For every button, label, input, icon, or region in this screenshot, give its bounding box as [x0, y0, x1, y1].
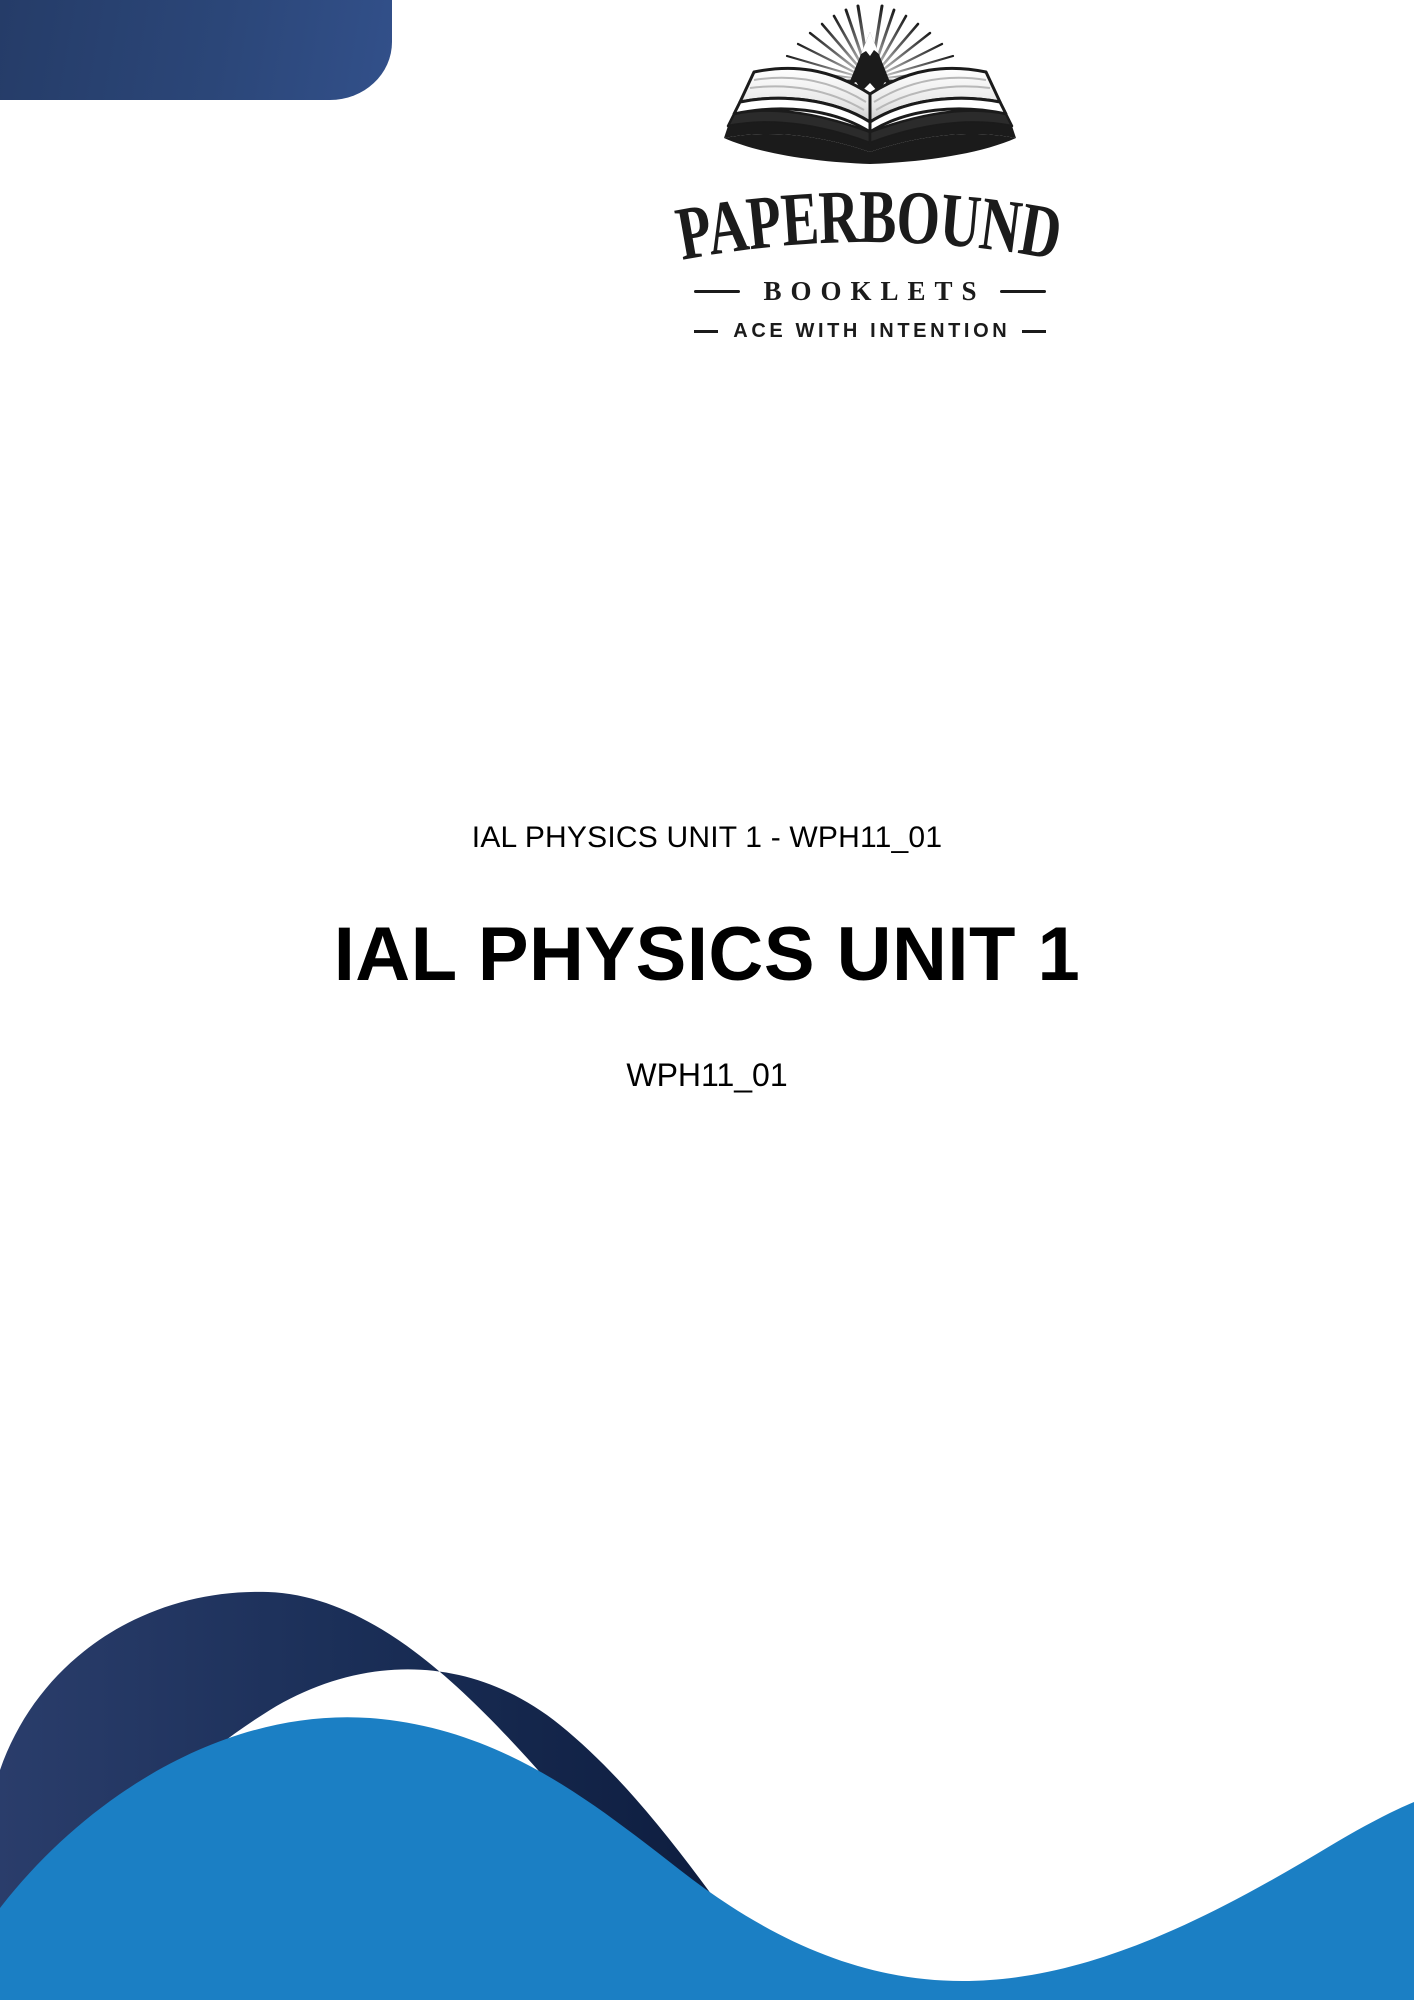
tagline-right-dash-icon: [1022, 330, 1046, 333]
blue-wave-shape: [0, 1717, 1414, 2000]
logo-tagline: ACE WITH INTENTION: [730, 320, 1011, 343]
cover-title-block: IAL PHYSICS UNIT 1 - WPH11_01 IAL PHYSIC…: [0, 820, 1414, 1095]
logo-sub-brand: BOOKLETS: [754, 276, 985, 307]
cover-eyebrow: IAL PHYSICS UNIT 1 - WPH11_01: [0, 820, 1414, 856]
logo-tagline-row: ACE WITH INTENTION: [674, 320, 1066, 343]
left-dash-icon: [694, 290, 740, 293]
open-book-mountain-sunburst-icon: [680, 2, 1060, 180]
logo-sub-brand-row: BOOKLETS: [674, 276, 1066, 307]
cover-subtitle: WPH11_01: [0, 1056, 1414, 1094]
bottom-wave-decoration: [0, 1440, 1414, 2000]
page-title: IAL PHYSICS UNIT 1: [0, 911, 1414, 998]
svg-text:PAPERBOUND: PAPERBOUND: [674, 182, 1066, 274]
logo-wordmark-paperbound: PAPERBOUND: [674, 182, 1066, 274]
top-left-navy-tab: [0, 0, 392, 100]
right-dash-icon: [1000, 290, 1046, 293]
paperbound-logo: PAPERBOUND BOOKLETS ACE WITH INTENTION: [645, 0, 1095, 352]
tagline-left-dash-icon: [694, 330, 718, 333]
cover-page: PAPERBOUND BOOKLETS ACE WITH INTENTION I…: [0, 0, 1414, 2000]
